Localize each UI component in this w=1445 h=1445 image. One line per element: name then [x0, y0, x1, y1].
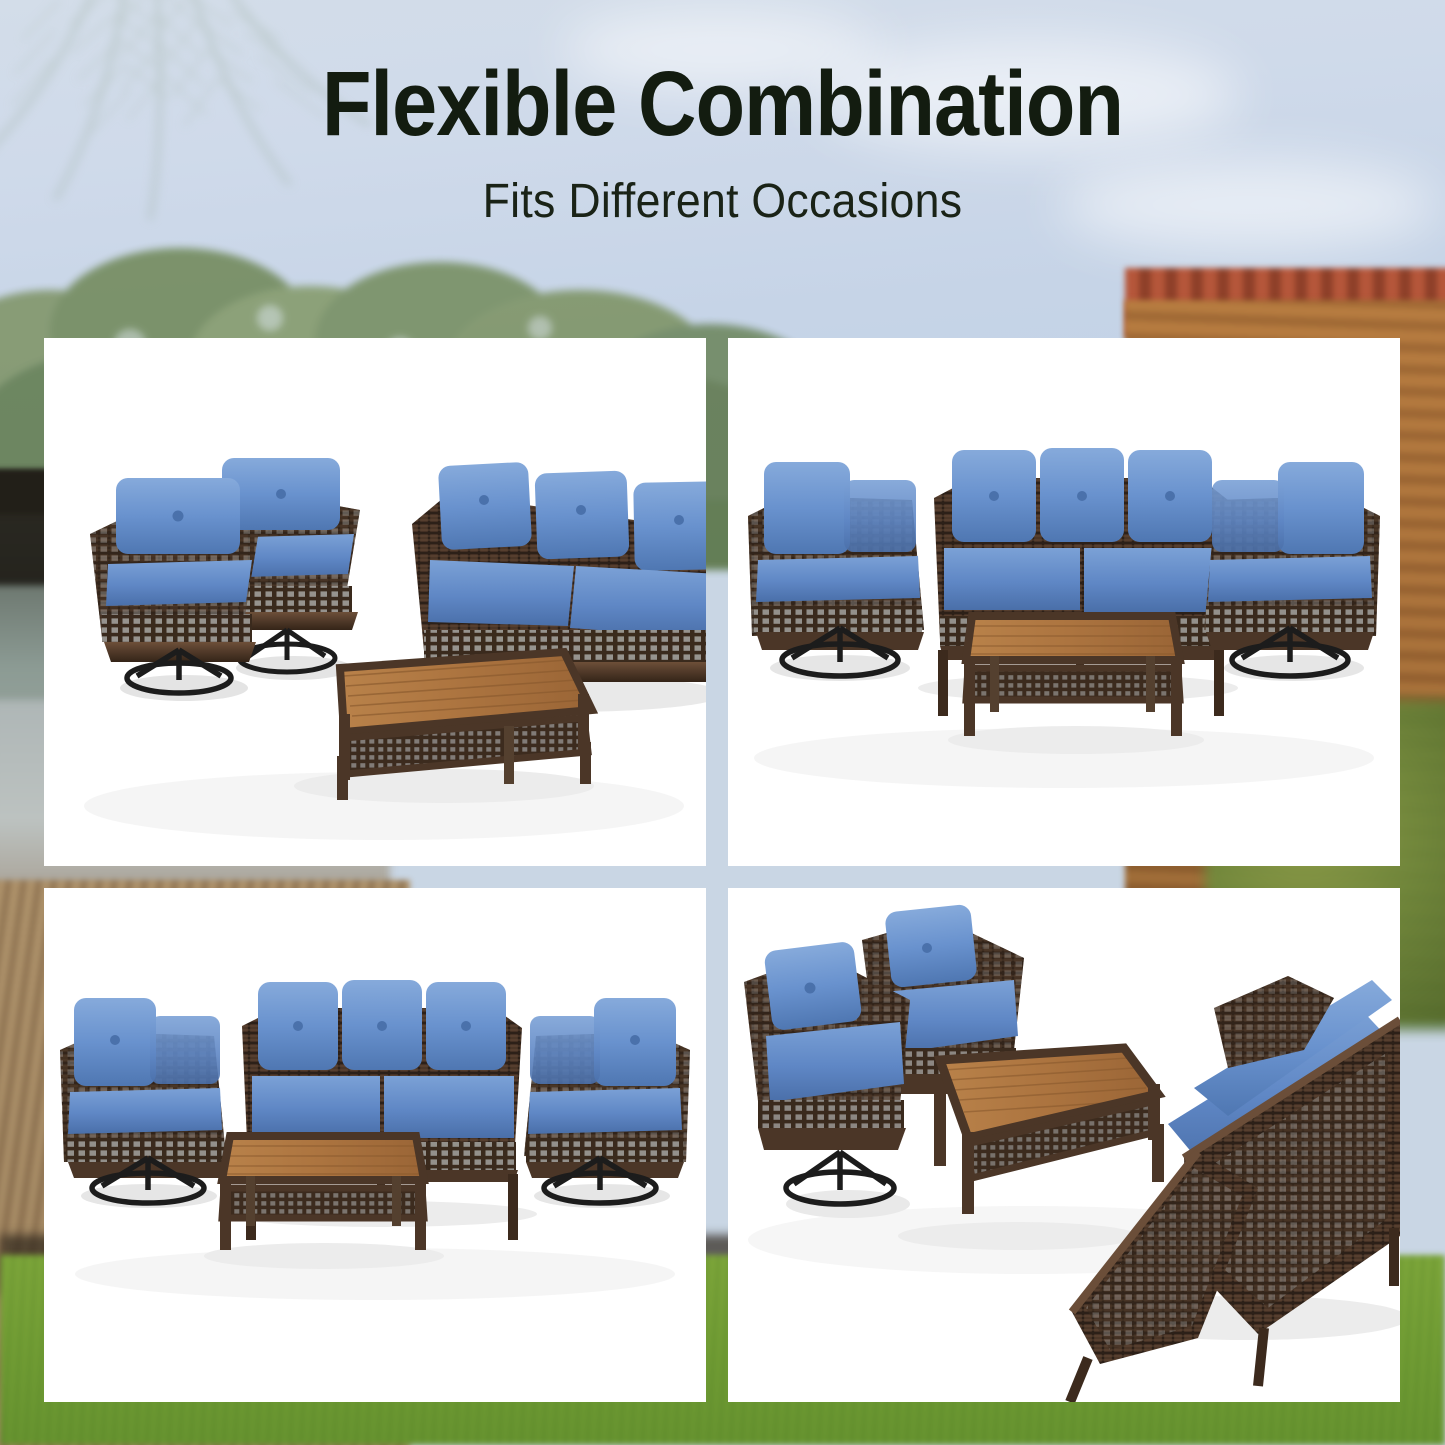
page-subtitle: Fits Different Occasions	[51, 178, 1395, 226]
panel-2-illustration	[728, 338, 1400, 866]
panel-grid	[44, 338, 1400, 1402]
swivel-chair	[524, 998, 690, 1208]
swivel-chair	[748, 462, 924, 681]
panel-1-angled-set	[44, 338, 706, 866]
panel-4-illustration	[728, 888, 1400, 1402]
coffee-table	[948, 616, 1204, 754]
coffee-table	[294, 652, 594, 803]
swivel-chair	[1204, 462, 1380, 681]
page-title: Flexible Combination	[87, 58, 1359, 150]
panel-3-open-u-set	[44, 888, 706, 1402]
coffee-table	[204, 1136, 444, 1269]
swivel-chair	[60, 998, 226, 1208]
panel-1-illustration	[44, 338, 706, 866]
panel-2-symmetric-set	[728, 338, 1400, 866]
panel-4-overhead-set	[728, 888, 1400, 1402]
panel-3-illustration	[44, 888, 706, 1402]
header: Flexible Combination Fits Different Occa…	[0, 0, 1445, 330]
